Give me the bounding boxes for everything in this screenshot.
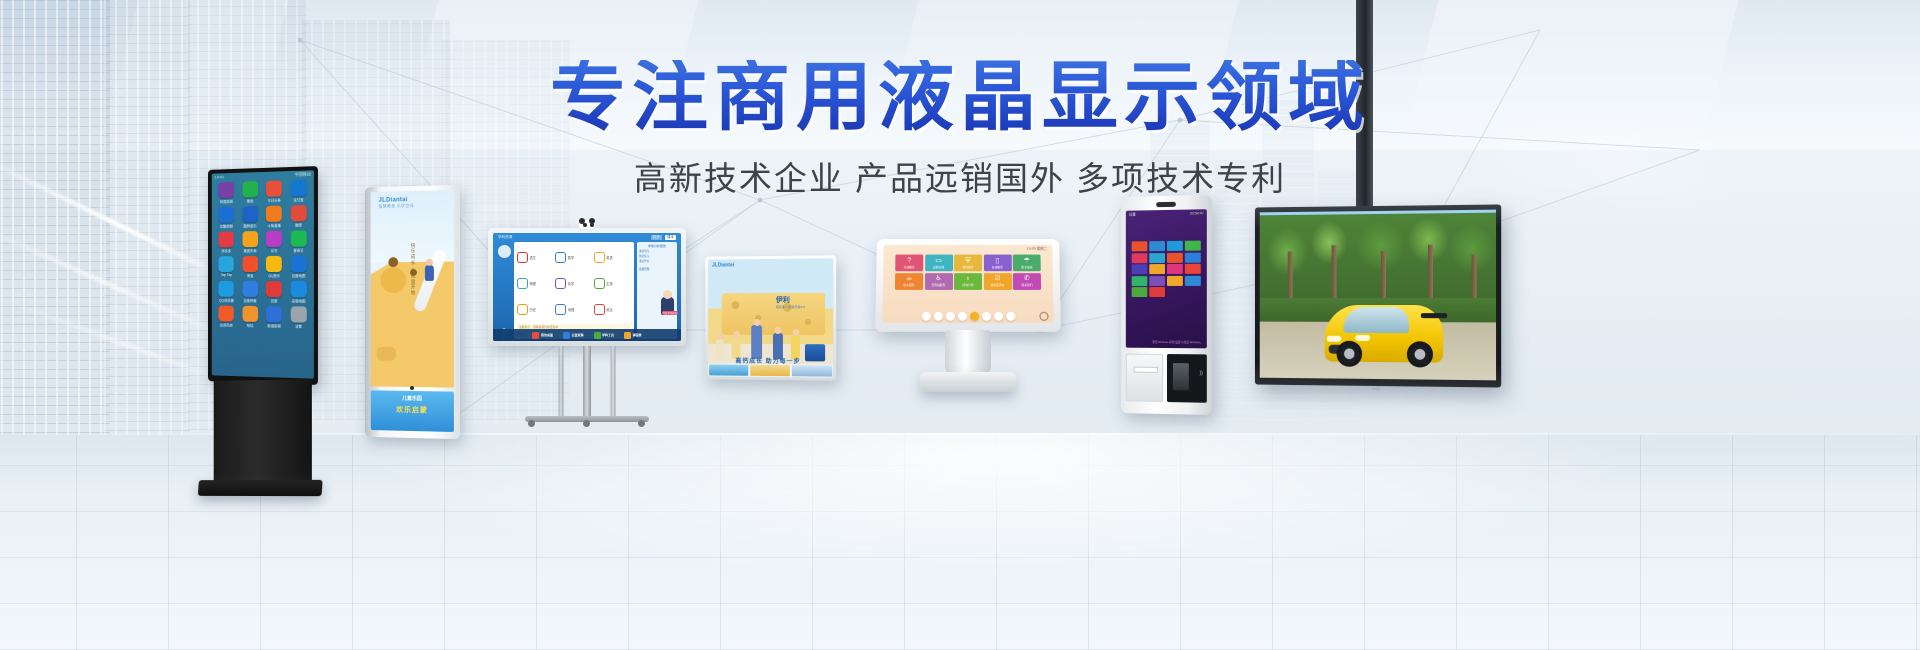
app-label: 美团外卖 — [239, 248, 261, 253]
dock-item[interactable]: 课程表 — [624, 332, 642, 339]
cheese-hole — [732, 301, 740, 309]
subject-item[interactable]: 英语 — [594, 245, 631, 269]
windows-tile[interactable] — [1167, 264, 1183, 274]
windows-tile[interactable] — [1132, 241, 1148, 251]
app-tile[interactable]: 新浪新闻 — [263, 306, 285, 328]
dock-item[interactable]: 云盘资源 — [563, 332, 584, 339]
subject-item[interactable]: 地理 — [555, 298, 592, 322]
camera-icon — [410, 386, 414, 390]
tile-icon: ⛨ — [965, 257, 970, 264]
whiteboard-frame[interactable]: 学科资源 同步 课本 学习中心 语文 数学 英语 — [488, 228, 686, 346]
caster-wheel — [528, 420, 535, 427]
app-label: 优酷视频 — [216, 223, 238, 228]
subject-label: 地理 — [568, 307, 574, 312]
app-label: 微博 — [287, 222, 310, 227]
app-tile[interactable]: 爱奇艺 — [287, 230, 310, 253]
app-tile[interactable]: 百度 — [263, 281, 285, 303]
dock-icon[interactable] — [957, 311, 966, 320]
page-subtitle: 高新技术企业 产品远销国外 多项技术专利 — [0, 152, 1920, 200]
stand-column-right — [611, 346, 616, 418]
service-tile[interactable]: ♁问询引导 — [954, 273, 982, 290]
child-figure — [425, 265, 434, 281]
tile-label: 咨询服务 — [904, 265, 915, 269]
front-wheel — [1336, 340, 1362, 366]
dock-label: 课程表 — [633, 333, 642, 337]
service-tile[interactable]: ♿无障碍服务 — [924, 273, 952, 290]
user-avatar[interactable] — [498, 245, 511, 258]
subject-item[interactable]: 生物 — [594, 271, 631, 295]
app-tile[interactable]: 酷狗音乐 — [239, 206, 261, 228]
app-tile[interactable]: 高德地图 — [287, 281, 310, 303]
app-label: 拼多多 — [216, 248, 238, 253]
header-title: 学科资源 — [498, 235, 512, 240]
app-label: 斗鱼直播 — [263, 223, 285, 228]
kiosk-base — [198, 480, 323, 496]
dock-label: 云盘资源 — [571, 333, 583, 337]
service-tile-grid: ?咨询服务 ▭自助办理 ⛨预约取号 ▯充电服务 ☂雨伞借用 ☕饮水服务 ♿无障碍… — [883, 245, 1053, 294]
tutor-bubble: 今日学习任务 — [662, 311, 678, 315]
windows-tile[interactable] — [1149, 287, 1165, 297]
decor-ball — [388, 257, 398, 267]
app-label: 爱奇艺 — [287, 248, 310, 253]
product-brand-sub: 营养多一点 快乐多5% — [776, 305, 805, 309]
ad-screen-content: JLDiantai 伊利营养多一点 快乐多5% 高钙成长 助力每一步 — [708, 258, 833, 377]
stand-column-center — [583, 346, 591, 418]
windows-tile[interactable] — [1132, 276, 1148, 286]
tile-label: 预约取号 — [962, 265, 973, 269]
stand-column-left — [559, 346, 564, 418]
device-self-service-kiosk[interactable]: 设置 20:54:47 — [1120, 196, 1212, 414]
vertical-display-screen: JLDiantai智慧教育 乐学空间 快乐成长 从这里开始 — [371, 190, 454, 388]
barcode-scanner[interactable]: )) — [1167, 354, 1207, 403]
tile-label: 自助办理 — [933, 265, 944, 269]
device-smart-whiteboard[interactable]: 学科资源 同步 课本 学习中心 语文 数学 英语 — [488, 228, 686, 438]
device-floor-kiosk[interactable]: 14:42 中国移动 网易新闻 微信 今日头条 支付宝 优酷视频 酷狗音乐 斗鱼… — [196, 168, 322, 498]
person-figure — [716, 339, 724, 359]
tab-inactive[interactable]: 同步 — [651, 235, 662, 240]
tab-active[interactable]: 课本 — [665, 235, 676, 240]
dock-label: 学科工具 — [602, 333, 614, 337]
sports-car — [1324, 305, 1442, 363]
subject-label: 英语 — [606, 255, 612, 260]
tv-frame[interactable]: LCD — [1255, 204, 1501, 387]
tile-icon: ♿ — [935, 275, 941, 282]
subject-label: 数学 — [568, 255, 574, 260]
subject-label: 历史 — [530, 307, 536, 312]
touch-table-screen: 14:05 星期二 ?咨询服务 ▭自助办理 ⛨预约取号 ▯充电服务 ☂雨伞借用 … — [882, 245, 1053, 323]
subject-item[interactable]: 政治 — [594, 298, 631, 322]
app-label: 百度 — [263, 298, 285, 303]
tile-label: 雨伞借用 — [1021, 265, 1032, 269]
windows-tile[interactable] — [1132, 287, 1148, 297]
brand-logo: JLDiantai — [712, 262, 734, 268]
app-label: 酷狗音乐 — [239, 223, 261, 228]
kiosk-app-grid: 网易新闻 微信 今日头条 支付宝 优酷视频 酷狗音乐 斗鱼直播 微博 拼多多 美… — [212, 177, 314, 331]
dock-icon-active[interactable] — [970, 311, 979, 320]
tile-label: 联系我们 — [1021, 283, 1032, 287]
device-vertical-ad-display[interactable]: JLDiantai智慧教育 乐学空间 快乐成长 从这里开始 儿童乐园 欢乐启蒙 — [364, 186, 460, 438]
windows-tile[interactable] — [1149, 241, 1165, 251]
app-tile[interactable]: 咪咕 — [239, 306, 261, 328]
app-tile[interactable]: 百度地图 — [287, 256, 310, 278]
service-tile[interactable]: ☕饮水服务 — [895, 273, 923, 290]
caster-wheel — [583, 420, 590, 427]
device-lcd-tv[interactable]: LCD — [1252, 206, 1500, 386]
product-package — [805, 344, 825, 361]
cheese-backdrop — [722, 293, 825, 335]
tile-icon: ? — [907, 257, 911, 264]
service-tile[interactable]: ?咨询服务 — [895, 255, 923, 272]
decor-ball — [381, 267, 407, 293]
subject-item[interactable]: 化学 — [555, 271, 592, 295]
windows-tile[interactable] — [1167, 275, 1183, 285]
app-tile[interactable]: QQ浏览器 — [216, 281, 238, 303]
tile-label: 充电服务 — [992, 265, 1003, 269]
cheese-hole — [805, 319, 811, 325]
settings-label[interactable]: 设置 — [1129, 213, 1136, 218]
windows-tile[interactable] — [1149, 276, 1165, 286]
touch-table-frame[interactable]: 14:05 星期二 ?咨询服务 ▭自助办理 ⛨预约取号 ▯充电服务 ☂雨伞借用 … — [875, 239, 1061, 332]
app-label: Tap Tap — [216, 273, 238, 277]
tv-screen — [1260, 210, 1496, 381]
app-label: 百度网盘 — [239, 298, 261, 303]
windows-tile[interactable] — [1149, 264, 1165, 274]
thumb[interactable] — [709, 364, 748, 375]
device-touch-table[interactable]: 14:05 星期二 ?咨询服务 ▭自助办理 ⛨预约取号 ▯充电服务 ☂雨伞借用 … — [876, 238, 1060, 400]
thumbnail-strip — [708, 364, 833, 378]
dock-icon[interactable] — [933, 311, 942, 320]
banner-line-2: 欢乐启蒙 — [396, 405, 428, 416]
search-icon[interactable] — [1039, 312, 1048, 321]
app-label: 应用商店 — [216, 322, 238, 327]
service-tile[interactable]: ⛨预约取号 — [954, 255, 982, 272]
tile-icon: ☂ — [1024, 257, 1030, 264]
whiteboard-dock: 我的桌面 云盘资源 学科工具 课程表 — [493, 329, 681, 341]
analysis-title: 学情分析报告 — [639, 244, 675, 248]
app-tile[interactable]: 百度网盘 — [239, 281, 261, 303]
tile-label: 问询引导 — [962, 283, 973, 287]
page-title: 专注商用液晶显示领域 — [0, 60, 1920, 136]
screen-vertical-copy: 快乐成长 从这里开始 — [410, 243, 416, 296]
windows-tile[interactable] — [1132, 253, 1148, 263]
windows-tile[interactable] — [1184, 264, 1200, 274]
windows-tile[interactable] — [1167, 241, 1183, 251]
app-tile[interactable]: 设置 — [287, 306, 310, 329]
subject-card: 语文 数学 英语 物理 化学 生物 历史 地理 政治 温馨提示：课程资源持续更新… — [514, 242, 634, 339]
brand-tagline: 智慧教育 乐学空间 — [379, 203, 414, 210]
windows-tile[interactable] — [1132, 264, 1148, 274]
bottom-dock — [882, 310, 1053, 322]
tile-icon: ☑ — [994, 275, 1000, 282]
dock-icon[interactable] — [921, 311, 930, 320]
headlight — [1327, 336, 1342, 342]
self-service-screen: 设置 20:54:47 — [1126, 209, 1207, 348]
tile-icon: ▯ — [995, 257, 999, 264]
ad-screen-frame[interactable]: JLDiantai 伊利营养多一点 快乐多5% 高钙成长 助力每一步 — [705, 255, 836, 380]
service-tile[interactable]: ☑满意度评价 — [983, 273, 1011, 290]
panda-mascot-icon — [578, 219, 596, 230]
service-tile[interactable]: ☂雨伞借用 — [1013, 255, 1041, 272]
scanner-window — [1173, 363, 1189, 391]
subject-label: 化学 — [568, 281, 574, 286]
whiteboard-body: 学习中心 语文 数学 英语 物理 化学 生物 历史 地理 政治 — [493, 242, 681, 341]
screen-bottom-banner: 儿童乐园 欢乐启蒙 — [371, 390, 454, 432]
service-tile[interactable]: ▭自助办理 — [925, 255, 953, 272]
app-label: 京东 — [263, 248, 285, 253]
thumb[interactable] — [750, 365, 790, 376]
hero-banner: 专注商用液晶显示领域 高新技术企业 产品远销国外 多项技术专利 14:42 中国… — [0, 0, 1920, 650]
status-clock: 14:05 星期二 — [1027, 247, 1048, 252]
tile-icon: ✆ — [1024, 275, 1030, 282]
person-figure — [751, 325, 762, 359]
vertical-display-frame[interactable]: JLDiantai智慧教育 乐学空间 快乐成长 从这里开始 儿童乐园 欢乐启蒙 — [365, 185, 460, 439]
whiteboard-header: 学科资源 同步 课本 — [493, 233, 681, 242]
analysis-footer: 班级管理 — [639, 267, 675, 271]
dock-label: 我的桌面 — [541, 333, 553, 337]
app-tile[interactable]: QQ音乐 — [263, 256, 285, 278]
table-base — [920, 372, 1016, 392]
subject-label: 语文 — [530, 255, 536, 260]
app-tile[interactable]: 应用商店 — [216, 306, 238, 328]
tile-label: 无障碍服务 — [931, 283, 945, 287]
app-tile[interactable]: 斗鱼直播 — [263, 205, 285, 228]
banner-line-1: 儿童乐园 — [402, 395, 422, 402]
app-tile[interactable]: 拼多多 — [216, 231, 238, 253]
app-tile[interactable]: 京东 — [263, 231, 285, 253]
self-service-frame[interactable]: 设置 20:54:47 — [1121, 195, 1212, 415]
receipt-printer-slot[interactable] — [1126, 354, 1163, 402]
product-brand: 伊利营养多一点 快乐多5% — [776, 295, 805, 309]
kiosk-peripherals: )) — [1126, 354, 1207, 403]
app-tile[interactable]: 优酷视频 — [216, 207, 238, 229]
tv-brand-logo: LCD — [1372, 386, 1380, 391]
windows-tile[interactable] — [1184, 241, 1200, 251]
rear-wing — [1421, 313, 1447, 318]
dock-icon[interactable] — [994, 311, 1003, 320]
tile-icon: ▭ — [935, 257, 942, 264]
app-label: 百度地图 — [287, 273, 310, 278]
app-tile[interactable]: Tap Tap — [216, 256, 238, 278]
app-tile[interactable]: 微博 — [287, 205, 310, 228]
service-tile[interactable]: ✆联系我们 — [1013, 273, 1041, 290]
app-tile[interactable]: 美团外卖 — [239, 231, 261, 253]
app-label: 高德地图 — [287, 298, 310, 303]
dock-item[interactable]: 学科工具 — [594, 332, 615, 339]
clock-label: 20:54:47 — [1190, 211, 1204, 216]
windows-tile[interactable] — [1167, 252, 1183, 262]
table-neck — [945, 330, 991, 376]
tile-label: 满意度评价 — [990, 283, 1004, 287]
windows-tile-grid — [1126, 218, 1207, 303]
subject-grid: 语文 数学 英语 物理 化学 生物 历史 地理 政治 — [517, 245, 631, 322]
analysis-item[interactable]: 课后作业 — [639, 260, 675, 265]
service-tile[interactable]: ▯充电服务 — [983, 255, 1011, 272]
windows-tile[interactable] — [1184, 275, 1200, 285]
subject-label: 物理 — [530, 281, 536, 286]
tile-icon: ♁ — [965, 275, 970, 282]
rear-wheel — [1407, 341, 1433, 368]
app-label: QQ音乐 — [263, 273, 285, 278]
whiteboard-screen: 学科资源 同步 课本 学习中心 语文 数学 英语 — [493, 233, 681, 341]
subject-item[interactable]: 物理 — [517, 271, 554, 295]
caster-wheel — [638, 420, 645, 427]
dock-icon[interactable] — [1006, 311, 1015, 320]
dock-icon[interactable] — [982, 311, 991, 320]
headlight — [1355, 335, 1370, 341]
subject-label: 政治 — [606, 307, 612, 312]
dock-item[interactable]: 我的桌面 — [532, 332, 553, 339]
tree-row — [1260, 213, 1496, 309]
analysis-panel: 学情分析报告 课前预习 随堂练习 课后作业 班级管理 — [637, 242, 677, 339]
device-wall-ad-screen[interactable]: JLDiantai 伊利营养多一点 快乐多5% 高钙成长 助力每一步 — [704, 256, 836, 380]
subject-item[interactable]: 语文 — [517, 245, 554, 269]
activation-watermark: 激活 Windows 转到“设置”以激活 Windows。 — [1152, 341, 1202, 345]
kiosk-body — [214, 379, 312, 487]
app-label: 新浪新闻 — [263, 323, 285, 328]
app-tile[interactable]: 淘宝 — [239, 256, 261, 278]
dock-icon[interactable] — [945, 311, 954, 320]
windows-tile[interactable] — [1149, 253, 1165, 263]
decor-ball — [377, 347, 397, 361]
subject-item[interactable]: 历史 — [517, 298, 554, 322]
windows-tile[interactable] — [1184, 252, 1200, 262]
tile-icon: ☕ — [906, 275, 912, 282]
kiosk-screen-content: 14:42 中国移动 网易新闻 微信 今日头条 支付宝 优酷视频 酷狗音乐 斗鱼… — [212, 170, 314, 378]
subject-item[interactable]: 数学 — [555, 245, 592, 269]
app-label: 设置 — [287, 323, 310, 328]
subject-label: 生物 — [606, 281, 612, 286]
app-label: QQ浏览器 — [216, 298, 238, 303]
camera-icon — [1156, 202, 1176, 207]
app-label: 淘宝 — [239, 273, 261, 278]
thumb[interactable] — [792, 365, 832, 376]
nfc-icon: )) — [1199, 371, 1202, 377]
app-label: 咪咕 — [239, 323, 261, 328]
windshield — [1343, 307, 1409, 332]
tile-label: 饮水服务 — [903, 283, 914, 287]
